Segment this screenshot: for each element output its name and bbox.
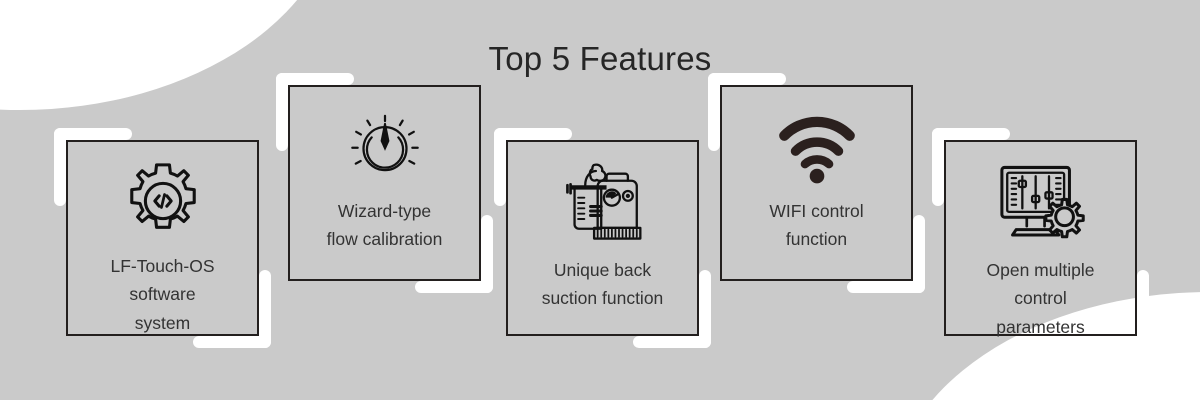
feature-card-3[interactable]: Unique back suction function	[506, 140, 699, 336]
feature-card-1[interactable]: LF-Touch-OS software system	[66, 140, 259, 336]
suction-pump-icon	[555, 158, 651, 248]
calibration-dial-icon	[342, 103, 428, 189]
feature-label: Open multiple control parameters	[948, 256, 1133, 341]
feature-card-5[interactable]: Open multiple control parameters	[944, 140, 1137, 336]
page-title: Top 5 Features	[0, 40, 1200, 78]
wifi-icon	[774, 103, 860, 189]
monitor-sliders-gear-icon	[993, 158, 1089, 248]
feature-label: WIFI control function	[724, 197, 909, 254]
feature-label: Unique back suction function	[510, 256, 695, 313]
feature-card-2[interactable]: Wizard-type flow calibration	[288, 85, 481, 281]
feature-infographic: Top 5 Features LF-Touch-OS software syst…	[0, 0, 1200, 400]
feature-label: LF-Touch-OS software system	[70, 252, 255, 337]
feature-label: Wizard-type flow calibration	[292, 197, 477, 254]
gear-code-icon	[120, 158, 206, 244]
feature-card-4[interactable]: WIFI control function	[720, 85, 913, 281]
